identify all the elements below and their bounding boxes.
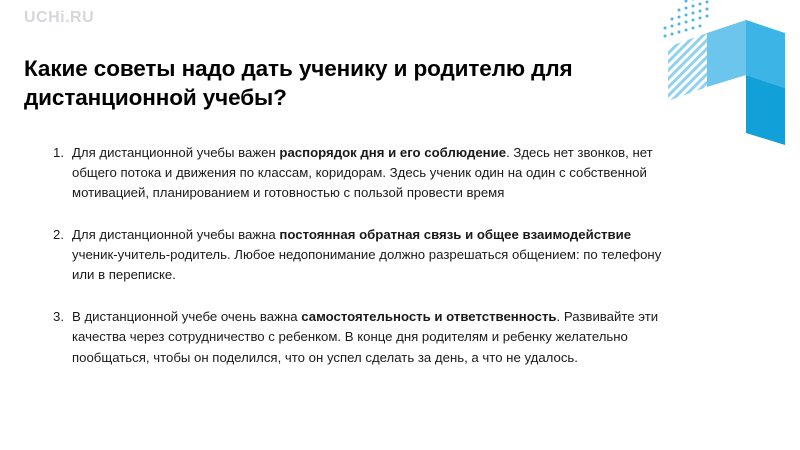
chevron-panel-dark: [746, 75, 785, 145]
list-item-number: 3.: [46, 307, 64, 327]
list-item: 2.Для дистанционной учебы важна постоянн…: [46, 225, 666, 285]
emphasis-text: самостоятельность и ответственность: [301, 309, 556, 324]
uchi-ru-logo: UCHi.RU: [24, 10, 94, 26]
plain-text: В дистанционной учебе очень важна: [72, 309, 301, 324]
list-item: 1.Для дистанционной учебы важен распоряд…: [46, 143, 666, 203]
list-item-number: 2.: [46, 225, 64, 245]
list-item-number: 1.: [46, 143, 64, 163]
list-item: 3.В дистанционной учебе очень важна само…: [46, 307, 666, 367]
emphasis-text: постоянная обратная связь и общее взаимо…: [279, 227, 631, 242]
list-item-text: Для дистанционной учебы важен распорядок…: [72, 143, 666, 203]
list-item-text: Для дистанционной учебы важна постоянная…: [72, 225, 666, 285]
plain-text: Для дистанционной учебы важна: [72, 227, 279, 242]
list-item-text: В дистанционной учебе очень важна самост…: [72, 307, 666, 367]
chevron-panel-light: [707, 20, 746, 87]
slide-canvas: UCHi.RU Какие советы надо дать ученику и…: [0, 0, 800, 450]
chevron-panel-mid: [746, 20, 785, 88]
emphasis-text: распорядок дня и его соблюдение: [279, 145, 506, 160]
plain-text: Для дистанционной учебы важен: [72, 145, 279, 160]
plain-text: ученик-учитель-родитель. Любое недопоним…: [72, 247, 661, 282]
advice-list: 1.Для дистанционной учебы важен распоряд…: [46, 143, 666, 368]
page-title: Какие советы надо дать ученику и родител…: [24, 55, 684, 113]
dot-pattern-icon: [664, 0, 709, 38]
